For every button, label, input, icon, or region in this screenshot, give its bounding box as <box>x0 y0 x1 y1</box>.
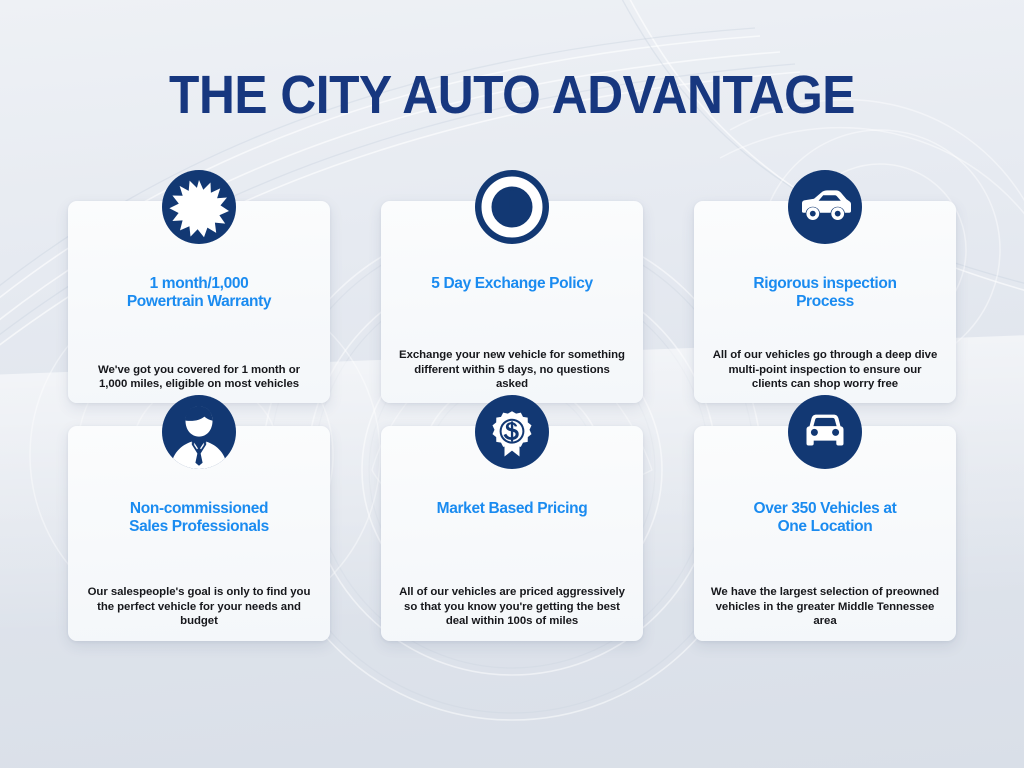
card-heading-line2: Process <box>712 293 938 311</box>
advantage-card[interactable]: 5 Day Exchange Policy Exchange your new … <box>381 201 643 403</box>
card-heading-line1: Non-commissioned <box>86 500 312 518</box>
card-body: All of our vehicles go through a deep di… <box>708 348 942 391</box>
card-heading-line1: Over 350 Vehicles at <box>712 500 938 518</box>
card-heading: Market Based Pricing <box>395 500 629 518</box>
card-heading-line2: One Location <box>712 518 938 536</box>
card-body: We have the largest selection of preowne… <box>708 585 942 628</box>
card-heading: 5 Day Exchange Policy <box>395 275 629 293</box>
advantage-card[interactable]: 1 month/1,000 Powertrain Warranty We've … <box>68 201 330 403</box>
starburst-icon <box>162 170 236 244</box>
clock-icon <box>475 170 549 244</box>
card-heading-line1: Rigorous inspection <box>712 275 938 293</box>
card-body: All of our vehicles are priced aggressiv… <box>395 585 629 628</box>
card-body: We've got you covered for 1 month or 1,0… <box>82 363 316 391</box>
card-body: Exchange your new vehicle for something … <box>395 348 629 391</box>
card-heading-line2: Sales Professionals <box>86 518 312 536</box>
award-dollar-icon <box>475 395 549 469</box>
salesperson-icon <box>162 395 236 469</box>
page-title: THE CITY AUTO ADVANTAGE <box>41 66 983 124</box>
advantage-card[interactable]: Non-commissioned Sales Professionals Our… <box>68 426 330 641</box>
card-heading: Rigorous inspection Process <box>708 275 942 311</box>
advantage-card[interactable]: Rigorous inspection Process All of our v… <box>694 201 956 403</box>
advantage-card[interactable]: Market Based Pricing All of our vehicles… <box>381 426 643 641</box>
card-heading-line1: 5 Day Exchange Policy <box>399 275 625 293</box>
page-title-wrap: THE CITY AUTO ADVANTAGE <box>0 66 1024 124</box>
car-front-icon <box>788 395 862 469</box>
card-heading-line2: Powertrain Warranty <box>86 293 312 311</box>
card-heading-line1: 1 month/1,000 <box>86 275 312 293</box>
card-heading: Over 350 Vehicles at One Location <box>708 500 942 536</box>
card-heading: Non-commissioned Sales Professionals <box>82 500 316 536</box>
advantage-card-grid: 1 month/1,000 Powertrain Warranty We've … <box>68 201 956 641</box>
card-heading-line1: Market Based Pricing <box>399 500 625 518</box>
car-side-icon <box>788 170 862 244</box>
card-heading: 1 month/1,000 Powertrain Warranty <box>82 275 316 311</box>
page-stage: THE CITY AUTO ADVANTAGE 1 month/1,000 Po… <box>0 0 1024 768</box>
advantage-card[interactable]: Over 350 Vehicles at One Location We hav… <box>694 426 956 641</box>
card-body: Our salespeople's goal is only to find y… <box>82 585 316 628</box>
